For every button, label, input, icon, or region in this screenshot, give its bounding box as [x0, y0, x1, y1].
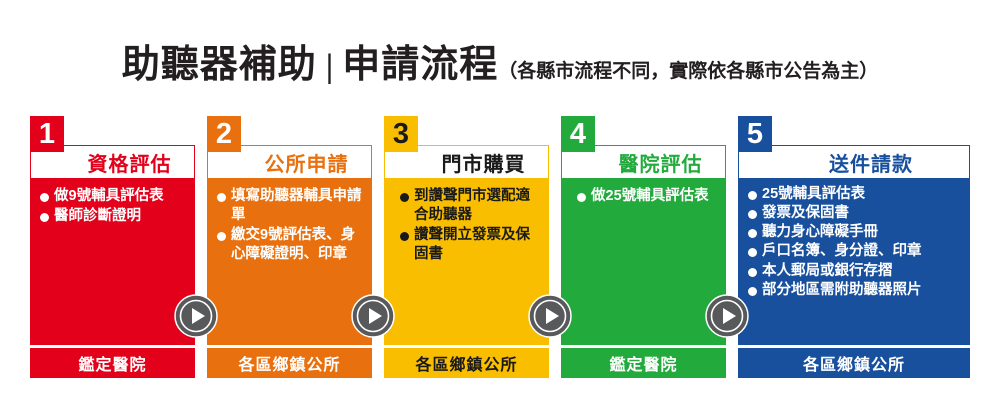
step-card-2[interactable]: 2 公所申請 填寫助聽器輔具申請單 繳交9號評估表、身心障礙證明、印章 各區鄉鎮… — [207, 116, 372, 378]
list-item: 做9號輔具評估表 — [39, 187, 188, 206]
arrow-1-to-2 — [174, 294, 218, 338]
step-footer-3: 各區鄉鎮公所 — [384, 348, 549, 378]
step-card-3[interactable]: 3 門市購買 到讚聲門市選配適合助聽器 讚聲開立發票及保固書 各區鄉鎮公所 — [384, 116, 549, 378]
page-header: 助聽器補助 | 申請流程 （各縣市流程不同，實際依各縣市公告為主） — [0, 0, 1000, 104]
step-item-list-1: 做9號輔具評估表 醫師診斷證明 — [31, 178, 194, 226]
step-body-5: 送件請款 25號輔具評估表 發票及保固書 聽力身心障礙手冊 戶口名簿、身分證、印… — [738, 145, 970, 345]
step-number-badge-2: 2 — [207, 116, 241, 152]
list-item: 繳交9號評估表、身心障礙證明、印章 — [216, 226, 365, 264]
step-footer-2: 各區鄉鎮公所 — [207, 348, 372, 378]
step-item-list-4: 做25號輔具評估表 — [562, 178, 725, 206]
list-item: 醫師診斷證明 — [39, 207, 188, 226]
arrow-3-to-4 — [528, 294, 572, 338]
step-footer-4: 鑑定醫院 — [561, 348, 726, 378]
page-subtitle: （各縣市流程不同，實際依各縣市公告為主） — [498, 56, 878, 83]
step-card-5[interactable]: 5 送件請款 25號輔具評估表 發票及保固書 聽力身心障礙手冊 戶口名簿、身分證… — [738, 116, 970, 378]
list-item: 聽力身心障礙手冊 — [747, 223, 963, 242]
play-arrow-icon — [705, 294, 749, 338]
step-title-5: 送件請款 — [739, 146, 969, 178]
list-item: 做25號輔具評估表 — [576, 187, 719, 206]
page-title-right: 申請流程 — [342, 33, 498, 88]
step-footer-5: 各區鄉鎮公所 — [738, 348, 970, 378]
step-body-1: 資格評估 做9號輔具評估表 醫師診斷證明 — [30, 145, 195, 345]
step-item-list-5: 25號輔具評估表 發票及保固書 聽力身心障礙手冊 戶口名簿、身分證、印章 本人郵… — [739, 178, 969, 300]
list-item: 戶口名簿、身分證、印章 — [747, 242, 963, 261]
arrow-4-to-5 — [705, 294, 749, 338]
list-item: 本人郵局或銀行存摺 — [747, 262, 963, 281]
list-item: 25號輔具評估表 — [747, 185, 963, 204]
play-arrow-icon — [528, 294, 572, 338]
step-number-badge-3: 3 — [384, 116, 418, 152]
page-title-left: 助聽器補助 — [122, 33, 317, 88]
list-item: 到讚聲門市選配適合助聽器 — [399, 187, 542, 225]
step-body-2: 公所申請 填寫助聽器輔具申請單 繳交9號評估表、身心障礙證明、印章 — [207, 145, 372, 345]
list-item: 部分地區需附助聽器照片 — [747, 281, 963, 300]
step-card-4[interactable]: 4 醫院評估 做25號輔具評估表 鑑定醫院 — [561, 116, 726, 378]
process-flow: 1 資格評估 做9號輔具評估表 醫師診斷證明 鑑定醫院 2 公所申請 填寫助聽器… — [0, 104, 1000, 394]
play-arrow-icon — [351, 294, 395, 338]
step-number-badge-1: 1 — [30, 116, 64, 152]
step-body-3: 門市購買 到讚聲門市選配適合助聽器 讚聲開立發票及保固書 — [384, 145, 549, 345]
step-footer-1: 鑑定醫院 — [30, 348, 195, 378]
title-line: 助聽器補助 | 申請流程 （各縣市流程不同，實際依各縣市公告為主） — [122, 33, 879, 88]
step-number-badge-4: 4 — [561, 116, 595, 152]
step-number-badge-5: 5 — [738, 116, 772, 152]
play-arrow-icon — [174, 294, 218, 338]
list-item: 填寫助聽器輔具申請單 — [216, 187, 365, 225]
step-card-1[interactable]: 1 資格評估 做9號輔具評估表 醫師診斷證明 鑑定醫院 — [30, 116, 195, 378]
step-item-list-2: 填寫助聽器輔具申請單 繳交9號評估表、身心障礙證明、印章 — [208, 178, 371, 265]
list-item: 讚聲開立發票及保固書 — [399, 226, 542, 264]
title-separator: | — [317, 48, 343, 86]
arrow-2-to-3 — [351, 294, 395, 338]
step-item-list-3: 到讚聲門市選配適合助聽器 讚聲開立發票及保固書 — [385, 178, 548, 265]
list-item: 發票及保固書 — [747, 204, 963, 223]
step-body-4: 醫院評估 做25號輔具評估表 — [561, 145, 726, 345]
